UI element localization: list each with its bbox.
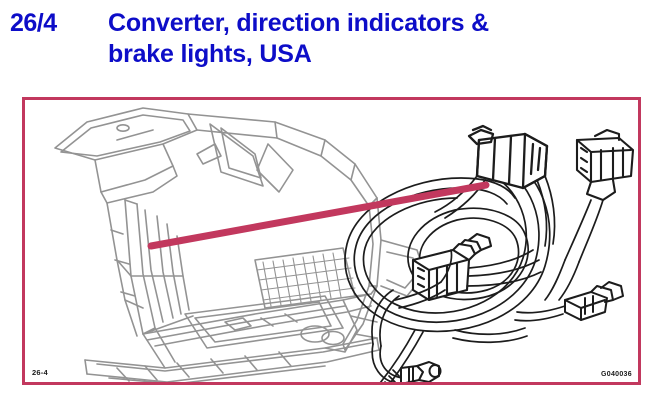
figure-canvas	[25, 100, 638, 382]
figure-frame	[22, 97, 641, 385]
page-title-line-2: brake lights, USA	[108, 39, 648, 70]
wiring-harness-drawing	[345, 126, 633, 382]
inline-connector	[565, 282, 623, 320]
page-title-line-1: Converter, direction indicators &	[108, 8, 648, 39]
figure-illustration	[25, 100, 638, 382]
figure-drawing-code: G040036	[601, 371, 632, 378]
figure-reference-label: 26-4	[32, 368, 48, 377]
page-number: 26/4	[10, 9, 57, 38]
page-title: Converter, direction indicators & brake …	[108, 8, 648, 70]
bullet-terminal	[401, 362, 441, 382]
page-header: 26/4 Converter, direction indicators & b…	[0, 0, 658, 92]
callout-line	[151, 185, 486, 246]
vehicle-rear-hatch-drawing	[55, 108, 425, 382]
square-connector	[577, 130, 633, 200]
